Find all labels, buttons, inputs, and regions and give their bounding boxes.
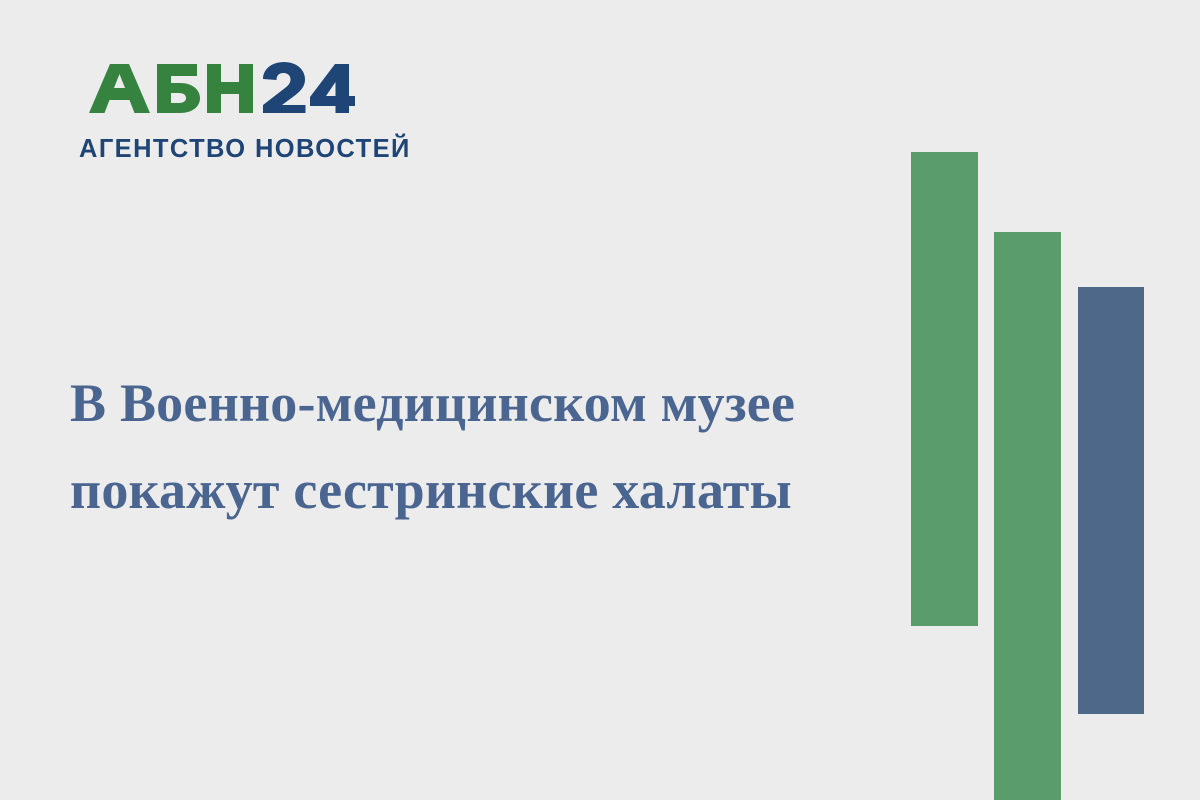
brand-logo: АГЕНТСТВО НОВОСТЕЙ (79, 60, 369, 163)
abn24-wordmark-icon (79, 60, 355, 130)
headline-line-2: покажут сестринские халаты (70, 447, 870, 534)
decor-bar-green-tall (911, 152, 978, 626)
headline-line-1: В Военно-медицинском музее (70, 360, 870, 447)
headline: В Военно-медицинском музее покажут сестр… (70, 360, 870, 535)
news-card: АГЕНТСТВО НОВОСТЕЙ В Военно-медицинском … (0, 0, 1200, 800)
decor-bar-blue-short (1078, 287, 1144, 714)
decor-bar-green-mid (994, 232, 1061, 800)
logo-tagline: АГЕНТСТВО НОВОСТЕЙ (79, 137, 369, 163)
